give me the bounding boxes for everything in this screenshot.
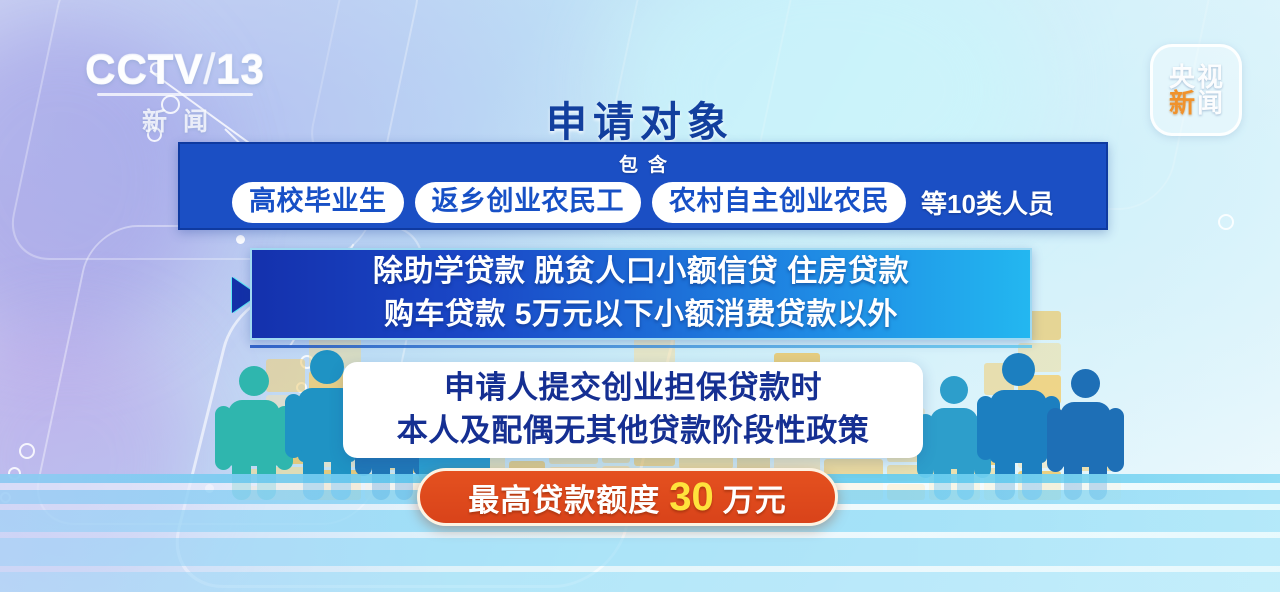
panel-underline bbox=[250, 345, 1032, 348]
person-silhouette bbox=[990, 353, 1047, 463]
circle-dot bbox=[0, 492, 11, 503]
person-body bbox=[990, 390, 1047, 463]
coin-block bbox=[929, 427, 980, 462]
coin-block bbox=[984, 468, 1014, 500]
coin-block bbox=[984, 433, 1014, 465]
logo-char-yang: 央 bbox=[1169, 64, 1195, 90]
exclusions-line-2: 购车贷款 5万元以下小额消费贷款以外 bbox=[384, 294, 898, 337]
person-body bbox=[228, 400, 280, 466]
coin-block bbox=[887, 484, 925, 500]
loan-limit-amount: 30 bbox=[666, 477, 717, 517]
include-pill: 高校毕业生 bbox=[232, 182, 404, 223]
person-head bbox=[310, 350, 344, 384]
loan-limit-prefix: 最高贷款额度 bbox=[468, 475, 660, 520]
coin-block bbox=[236, 469, 262, 483]
pin-dot bbox=[205, 484, 214, 493]
coin-block bbox=[266, 431, 305, 464]
circle-dot bbox=[8, 467, 21, 480]
page-title: 申请对象 bbox=[0, 88, 1280, 148]
coin-block bbox=[1018, 439, 1061, 468]
person-legs bbox=[298, 457, 356, 500]
person-legs bbox=[990, 458, 1047, 500]
include-pill: 农村自主创业农民 bbox=[652, 182, 906, 223]
coin-block bbox=[1018, 471, 1061, 500]
coin-block bbox=[266, 467, 305, 500]
person-legs bbox=[1060, 463, 1111, 500]
coin-block bbox=[1065, 474, 1121, 500]
coin-block bbox=[236, 486, 262, 500]
include-pill-row: 高校毕业生 返乡创业农民工 农村自主创业农民 等10类人员 bbox=[180, 182, 1106, 223]
coin-block bbox=[984, 363, 1014, 395]
circle-dot bbox=[300, 355, 314, 369]
person-legs bbox=[228, 462, 280, 500]
coin-block bbox=[1018, 375, 1061, 404]
person-silhouette bbox=[930, 376, 978, 469]
coin-block bbox=[1018, 407, 1061, 436]
panel-applicant-include: 包含 高校毕业生 返乡创业农民工 农村自主创业农民 等10类人员 bbox=[178, 142, 1108, 230]
coin-block bbox=[1065, 445, 1121, 471]
panel-loan-exclusions: 除助学贷款 脱贫人口小额信贷 住房贷款 购车贷款 5万元以下小额消费贷款以外 bbox=[250, 248, 1032, 340]
include-suffix-text: 等10类人员 bbox=[921, 184, 1054, 221]
coin-block bbox=[309, 470, 361, 500]
exclusions-line-1: 除助学贷款 脱贫人口小额信贷 住房贷款 bbox=[373, 251, 909, 294]
include-subheading: 包含 bbox=[180, 150, 1106, 177]
broadcast-graphic: CCTV/13 新闻 央 视 新 闻 申请对象 包含 高校毕业生 返乡创业农民工… bbox=[0, 0, 1280, 592]
condition-line-1: 申请人提交创业担保贷款时 bbox=[444, 367, 822, 410]
coin-block bbox=[984, 398, 1014, 430]
person-body bbox=[1060, 402, 1111, 467]
cctv-logo-slash: / bbox=[203, 45, 216, 92]
coin-block bbox=[266, 359, 305, 392]
loan-limit-unit: 万元 bbox=[723, 475, 787, 520]
person-head bbox=[239, 366, 269, 396]
logo-char-shi: 视 bbox=[1197, 64, 1223, 90]
coin-block bbox=[266, 395, 305, 428]
person-silhouette bbox=[1060, 369, 1111, 467]
person-legs bbox=[930, 465, 978, 500]
person-head bbox=[1002, 353, 1035, 386]
person-silhouette bbox=[228, 366, 280, 466]
condition-line-2: 本人及配偶无其他贷款阶段性政策 bbox=[397, 410, 870, 453]
coin-block bbox=[824, 459, 883, 478]
pin-dot bbox=[236, 235, 245, 244]
loan-limit-badge: 最高贷款额度 30 万元 bbox=[417, 468, 838, 526]
person-head bbox=[940, 376, 968, 404]
person-legs bbox=[368, 464, 417, 500]
coin-block bbox=[887, 465, 925, 481]
person-head bbox=[1071, 369, 1100, 398]
circle-dot bbox=[19, 443, 35, 459]
cctv-channel-number: 13 bbox=[216, 45, 265, 92]
coin-block bbox=[929, 465, 980, 500]
panel-application-condition: 申请人提交创业担保贷款时 本人及配偶无其他贷款阶段性政策 bbox=[343, 362, 923, 458]
coin-block bbox=[1065, 416, 1121, 442]
circle-dot bbox=[150, 62, 163, 75]
include-pill: 返乡创业农民工 bbox=[415, 182, 642, 223]
circle-dot bbox=[296, 382, 307, 393]
glow-blob bbox=[0, 330, 200, 590]
circle-dot bbox=[1218, 214, 1234, 230]
cctv-wordmark: CCTV bbox=[85, 45, 203, 92]
person-body bbox=[930, 408, 978, 469]
coin-block bbox=[365, 473, 396, 500]
